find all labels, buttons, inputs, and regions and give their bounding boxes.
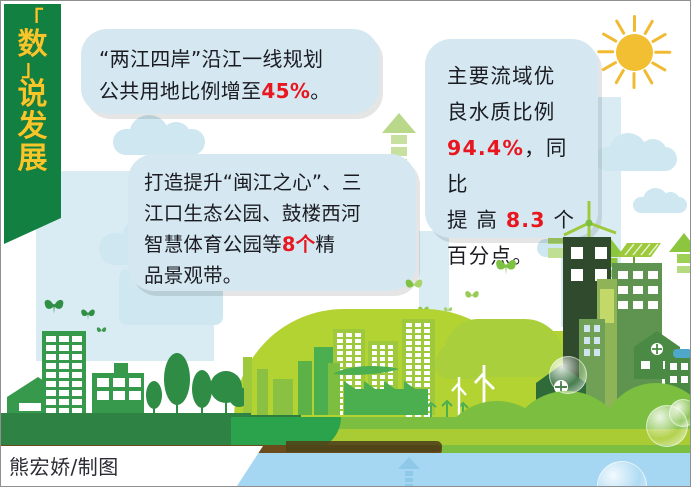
cloud-icon <box>633 197 687 213</box>
banner-label: 「 数 」 说 发 展 <box>4 4 61 175</box>
building-icon <box>42 331 86 423</box>
solar-panel-icon <box>609 241 661 265</box>
callout-planning-land-ratio[interactable]: “两江四岸”沿江一线规划 公共用地比例增至45%。 <box>81 29 379 114</box>
roof-accent <box>673 349 691 358</box>
butterfly-icon <box>404 277 424 293</box>
butterfly-icon <box>96 326 107 335</box>
value-highlight: 94.4% <box>447 136 524 160</box>
factory-icon <box>344 389 428 415</box>
up-arrow-icon <box>398 457 420 487</box>
callout-line: 主要流域优 <box>447 58 588 94</box>
butterfly-icon <box>494 257 518 276</box>
callout-line: 品景观带。 <box>144 260 404 291</box>
value-highlight: 45% <box>261 79 310 103</box>
callout-line: 江口生态公园、鼓楼西河 <box>144 198 404 229</box>
grass-band-green <box>331 417 691 429</box>
sun-disc <box>616 34 653 71</box>
building-icon <box>114 363 128 375</box>
leaf-swoosh-icon <box>331 363 401 377</box>
tree-icon <box>144 353 244 417</box>
callout-line: “两江四岸”沿江一线规划 <box>99 43 363 75</box>
callout-landscape-belts[interactable]: 打造提升“闽江之心”、三 江口生态公园、鼓楼西河 智慧体育公园等8个精 品景观带… <box>128 154 416 291</box>
callout-line: 公共用地比例增至45%。 <box>99 75 363 107</box>
banner-shu-shuo-fa-zhan: 「 数 」 说 发 展 <box>4 4 61 218</box>
ground-band-dark-front <box>1 413 251 447</box>
water-bubble-icon <box>549 356 587 394</box>
value-highlight: 8个 <box>282 233 315 256</box>
cloud-icon <box>113 129 205 155</box>
butterfly-icon <box>80 307 96 321</box>
solar-facade-icon <box>600 289 614 323</box>
building-icon <box>298 361 312 415</box>
callout-line: 良水质比例 <box>447 94 588 130</box>
building-icon <box>273 379 293 415</box>
callout-line: 打造提升“闽江之心”、三 <box>144 167 404 198</box>
banner-char: 展 <box>4 143 61 175</box>
building-icon <box>257 369 268 415</box>
callout-line: 94.4%，同比 <box>447 130 588 202</box>
banner-char: 说 <box>4 79 61 111</box>
up-arrow-icon <box>669 233 691 303</box>
value-highlight: 8.3 <box>506 208 546 232</box>
butterfly-icon <box>464 289 480 302</box>
banner-char: 发 <box>4 111 61 143</box>
credit-label: 熊宏娇/制图 <box>9 451 119 480</box>
callout-line: 智慧体育公园等8个精 <box>144 229 404 260</box>
water-bubble-icon <box>669 399 691 427</box>
factory-icon <box>344 379 428 391</box>
building-icon <box>243 357 252 415</box>
sun-icon <box>597 15 671 89</box>
soil-strip-shadow <box>286 441 442 452</box>
cloud-icon <box>595 147 677 171</box>
infographic-canvas: “两江四岸”沿江一线规划 公共用地比例增至45%。 打造提升“闽江之心”、三 江… <box>0 0 691 487</box>
butterfly-icon <box>43 297 65 315</box>
